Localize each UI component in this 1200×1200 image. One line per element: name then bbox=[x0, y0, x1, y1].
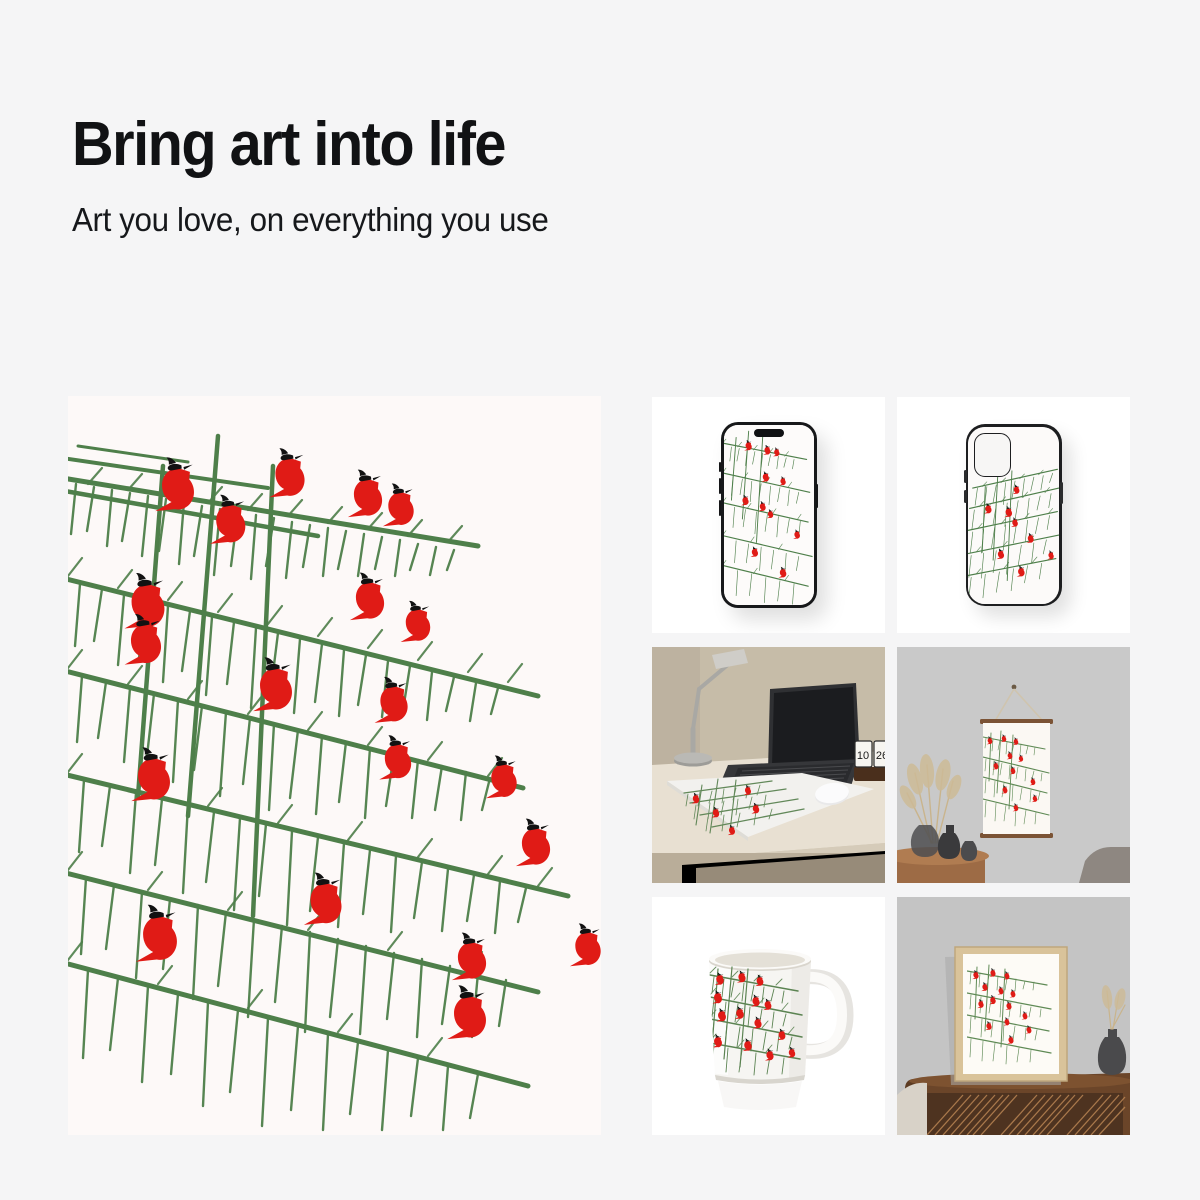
mug-scene bbox=[652, 897, 885, 1135]
dynamic-island bbox=[754, 429, 784, 437]
mockup-tile-desk-mat[interactable]: 10 26 bbox=[652, 647, 885, 883]
mockup-tile-hanging-poster[interactable] bbox=[897, 647, 1130, 883]
mockup-tile-framed-print[interactable] bbox=[897, 897, 1130, 1135]
desk-scene: 10 26 bbox=[652, 647, 885, 883]
phone-screen bbox=[724, 425, 814, 605]
mockup-tile-mug[interactable] bbox=[652, 897, 885, 1135]
poster-scene bbox=[897, 647, 1130, 883]
mockup-tile-grid: 10 26 bbox=[652, 397, 1136, 1135]
phone-volume-up bbox=[719, 478, 721, 494]
case-volume-down bbox=[964, 490, 967, 503]
wallpaper-artwork bbox=[724, 425, 814, 605]
page-title: Bring art into life bbox=[72, 112, 909, 177]
page-subtitle: Art you love, on everything you use bbox=[72, 201, 927, 239]
case-printed-face bbox=[968, 427, 1059, 604]
poster-artwork bbox=[983, 723, 1050, 834]
camera-cutout bbox=[974, 433, 1011, 477]
phone-body bbox=[721, 422, 817, 608]
calendar-month-value: 10 bbox=[857, 750, 869, 762]
calendar-day-value: 26 bbox=[876, 750, 885, 762]
phone-power-button bbox=[816, 484, 818, 508]
mockup-tile-phone-wallpaper[interactable] bbox=[652, 397, 885, 633]
page-root: Bring art into life Art you love, on eve… bbox=[0, 0, 1200, 1200]
phone-mute-switch bbox=[719, 462, 721, 472]
hero-artwork-panel[interactable] bbox=[68, 396, 601, 1135]
phone-mockup bbox=[652, 397, 885, 633]
mug-mockup bbox=[652, 897, 885, 1135]
flip-calendar: 10 26 bbox=[854, 741, 885, 781]
phone-volume-down bbox=[719, 500, 721, 516]
header: Bring art into life Art you love, on eve… bbox=[72, 112, 972, 239]
product-gallery: 10 26 bbox=[68, 396, 1136, 1136]
framed-print-scene bbox=[897, 897, 1130, 1135]
mockup-tile-phone-case[interactable] bbox=[897, 397, 1130, 633]
cardinals-pine-artwork bbox=[68, 396, 601, 1135]
framed-artwork bbox=[967, 957, 1055, 1071]
case-power-cutout bbox=[1060, 482, 1063, 504]
phone-case-body bbox=[966, 424, 1062, 606]
case-volume-up bbox=[964, 470, 967, 483]
